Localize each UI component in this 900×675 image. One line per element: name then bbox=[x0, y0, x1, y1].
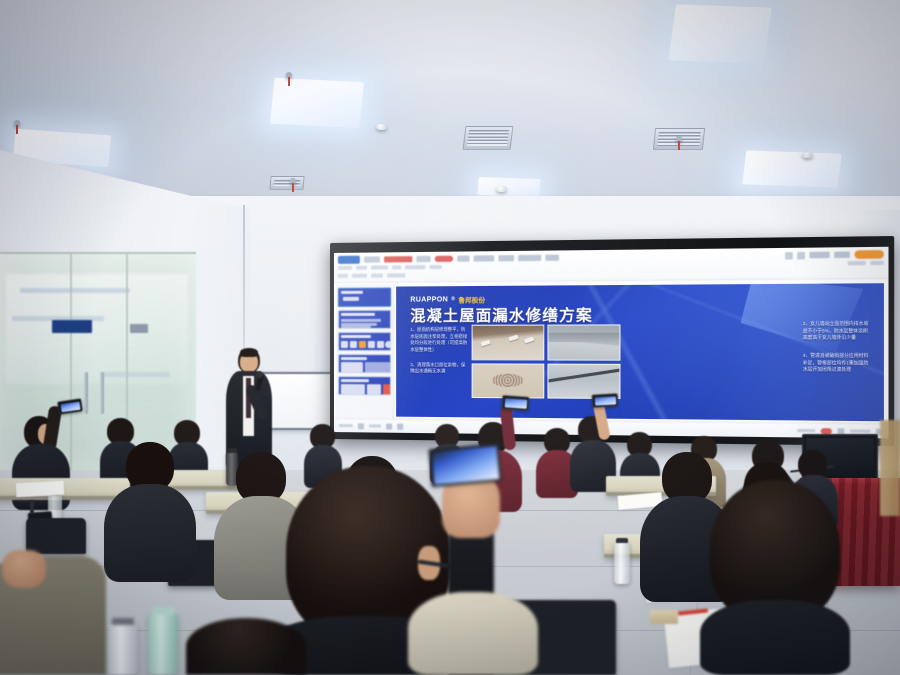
ribbon-command-label[interactable] bbox=[371, 265, 388, 269]
slide-thumbnail-panel[interactable] bbox=[336, 285, 394, 419]
presenter-head bbox=[238, 348, 260, 373]
ceiling-sprinkler bbox=[286, 72, 292, 78]
vacuum-flask bbox=[148, 614, 178, 675]
glass-mullion bbox=[70, 254, 72, 472]
foreground-audience-member bbox=[700, 480, 850, 675]
slide-title: 混凝土屋面漏水修缮方案 bbox=[410, 304, 593, 326]
ceiling-light-panel bbox=[742, 150, 842, 187]
ceiling-light-panel bbox=[270, 78, 364, 129]
ribbon-command-label[interactable] bbox=[352, 274, 367, 278]
foreground-audience-member bbox=[186, 618, 306, 675]
ceiling-light-panel bbox=[668, 4, 771, 63]
slide-thumbnail[interactable] bbox=[338, 332, 391, 351]
wooden-easel bbox=[880, 420, 900, 516]
slide-thumbnail[interactable] bbox=[338, 354, 391, 373]
slide-bullets-left: 1、屋面结构层修理整平，防水层底面注浆处理，互相搭接处均分段进行处理（可提高防水… bbox=[410, 327, 467, 384]
ribbon-command-label[interactable] bbox=[338, 266, 352, 270]
ribbon-tab[interactable] bbox=[545, 255, 559, 261]
glass-door-handle[interactable] bbox=[84, 372, 88, 414]
ribbon-icon[interactable] bbox=[797, 251, 805, 258]
ceiling-sprinkler bbox=[14, 120, 20, 126]
slide-photo-roof-parapet-junction bbox=[472, 325, 544, 360]
slide-bullet: 4、管道准被破损部分应用材料补足，管根部位均作1重加强防水层开加团角过渡处理 bbox=[803, 353, 873, 374]
ribbon-command-label[interactable] bbox=[430, 265, 442, 269]
ribbon-tab-active[interactable] bbox=[338, 256, 360, 264]
glass-reflection bbox=[20, 288, 130, 293]
foreground-audience-member bbox=[0, 556, 106, 675]
ceiling-light-panel bbox=[477, 177, 540, 197]
slide-thumbnail[interactable] bbox=[338, 288, 391, 307]
glass-tea-bottle bbox=[108, 624, 138, 675]
ribbon-command-label[interactable] bbox=[848, 261, 866, 265]
ribbon-command-label[interactable] bbox=[387, 273, 405, 277]
ribbon-command-label[interactable] bbox=[371, 274, 383, 278]
ceiling-smoke-detector bbox=[496, 186, 507, 192]
ribbon-tab[interactable] bbox=[364, 256, 380, 262]
slide-thumbnail[interactable] bbox=[338, 310, 391, 329]
notes-icon[interactable] bbox=[397, 423, 403, 429]
ceiling-smoke-detector bbox=[802, 152, 813, 158]
ribbon-command-label[interactable] bbox=[356, 266, 367, 270]
ribbon-tab[interactable] bbox=[518, 255, 541, 261]
slide-bullet: 3、清理落水口部位杂物，保障出水通畅无水满 bbox=[410, 362, 467, 376]
slide-bullets-right: 2、女儿墙站立面范围内排水坡度不小于5%，防水层整体涂刷高度高于女儿墙外沿少量 … bbox=[803, 321, 873, 383]
ribbon-command-label[interactable] bbox=[338, 274, 348, 278]
ceiling-smoke-detector bbox=[376, 124, 387, 130]
ribbon-tab[interactable] bbox=[834, 251, 850, 258]
ceiling-sprinkler bbox=[290, 178, 296, 184]
foreground-audience-member-photographing bbox=[408, 452, 538, 675]
glass-tea-bottle bbox=[614, 542, 630, 584]
ribbon-tab[interactable] bbox=[498, 255, 514, 261]
hand bbox=[2, 550, 46, 588]
ribbon-tab[interactable] bbox=[810, 252, 830, 259]
smartphone[interactable] bbox=[592, 393, 619, 407]
logo-registered-icon: ® bbox=[451, 296, 455, 302]
slide-photo-grid bbox=[472, 324, 621, 399]
ribbon-command-label[interactable] bbox=[405, 265, 425, 269]
ceiling-sprinkler bbox=[676, 136, 682, 142]
ribbon-tab[interactable] bbox=[457, 256, 469, 262]
status-label bbox=[369, 424, 381, 428]
ribbon-tab[interactable] bbox=[474, 255, 495, 261]
view-icon[interactable] bbox=[358, 423, 364, 429]
ceiling-air-vent bbox=[269, 176, 304, 190]
ribbon-tab[interactable] bbox=[416, 256, 430, 262]
glass-door-sign bbox=[52, 320, 92, 333]
slide-bullet: 2、女儿墙站立面范围内排水坡度不小于5%，防水层整体涂刷高度高于女儿墙外沿少量 bbox=[803, 321, 873, 342]
brand-logo: RUAPPON ® 鲁邦股份 bbox=[410, 294, 485, 305]
smartphone[interactable] bbox=[428, 443, 501, 487]
notepad bbox=[16, 481, 65, 497]
glass-door-handle[interactable] bbox=[100, 372, 104, 414]
audience-member bbox=[104, 442, 196, 582]
slide-photo-rooftop-overview bbox=[547, 324, 621, 360]
ribbon-command-label[interactable] bbox=[392, 265, 401, 269]
logo-chinese-name: 鲁邦股份 bbox=[458, 294, 485, 304]
ribbon-tab-alert[interactable] bbox=[384, 256, 412, 262]
ceiling-air-vent bbox=[463, 126, 514, 150]
slide-thumbnail[interactable] bbox=[338, 376, 391, 395]
microphone-head-icon bbox=[256, 371, 263, 378]
glass-door-lock bbox=[130, 324, 148, 333]
layout-icon[interactable] bbox=[386, 423, 392, 429]
ribbon-highlight-button[interactable] bbox=[854, 250, 883, 259]
small-box bbox=[650, 610, 678, 624]
chair bbox=[26, 518, 86, 554]
ribbon-command-label[interactable] bbox=[870, 261, 884, 265]
smartphone[interactable] bbox=[502, 395, 530, 411]
ribbon-icon[interactable] bbox=[785, 252, 793, 259]
ribbon-tab-alert[interactable] bbox=[435, 256, 453, 262]
status-label bbox=[850, 429, 870, 433]
slide-bullet: 1、屋面结构层修理整平，防水层底面注浆处理，互相搭接处均分段进行处理（可提高防水… bbox=[410, 327, 467, 354]
logo-wordmark: RUAPPON bbox=[410, 296, 448, 303]
app-ribbon-toolbar[interactable] bbox=[334, 247, 889, 283]
glass-reflection bbox=[100, 372, 170, 377]
conference-room-photo: RUAPPON ® 鲁邦股份 混凝土屋面漏水修缮方案 1、屋面结构层修理整平，防… bbox=[0, 0, 900, 675]
slide-photo-roof-drain-outlet bbox=[472, 363, 544, 399]
status-label bbox=[797, 429, 815, 433]
